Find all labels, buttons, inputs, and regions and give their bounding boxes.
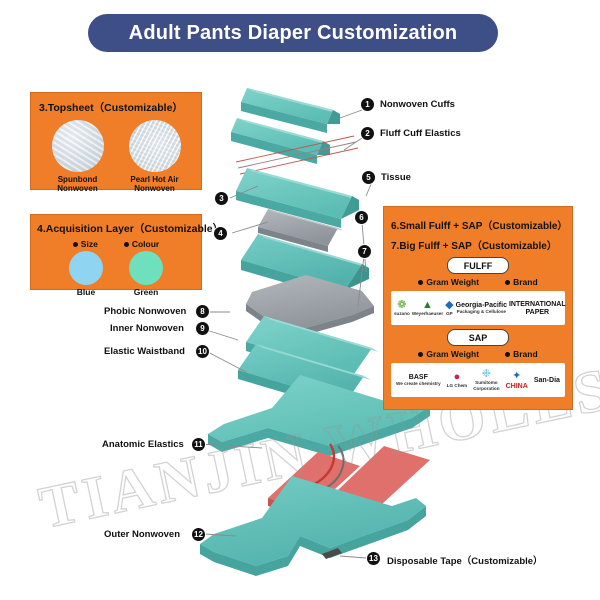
colour-swatch-label: Green [134, 287, 159, 297]
fulff-attribute-gram-weight: Gram Weight [418, 277, 479, 287]
brand-logo-international-paper: INTERNATIONAL PAPER [509, 300, 566, 316]
brand-subtitle: Corporation [473, 387, 499, 392]
brand-logo-china: ✦ CHINA [506, 371, 528, 390]
brand-name: BASF [409, 374, 428, 381]
callout-marker-12[interactable]: 12 [192, 528, 205, 541]
acquisition-panel-title: 4.Acquisition Layer（Customizable） [37, 221, 195, 236]
callout-label-11: Anatomic Elastics [102, 439, 184, 450]
colour-circle-icon [129, 251, 163, 285]
bullet-icon [505, 280, 510, 285]
fulff-line-big: 7.Big Fulff + SAP（Customizable） [391, 237, 565, 252]
callout-marker-8[interactable]: 8 [196, 305, 209, 318]
topsheet-panel: 3.Topsheet（Customizable） Spunbond Nonwov… [30, 92, 202, 190]
callout-label-2: Fluff Cuff Elastics [380, 128, 461, 139]
sap-brand-strip: BASF We create chemistry ● LG Chem ❉ Sum… [391, 363, 565, 397]
page-root: Adult Pants Diaper Customization [0, 0, 600, 600]
callout-label-13: Disposable Tape（Customizable） [387, 553, 543, 567]
fulff-line-small: 6.Small Fulff + SAP（Customizable） [391, 217, 565, 232]
brand-logo-san-dia: San-Dia [534, 376, 560, 384]
brand-name: Georgia-Pacific [456, 302, 507, 309]
attribute-label: Brand [513, 277, 538, 287]
brand-name: Sumitomo [475, 381, 497, 386]
attribute-label: Colour [132, 239, 159, 249]
bullet-icon [418, 352, 423, 357]
brand-name: suzano [394, 312, 410, 317]
brand-logo-basf: BASF We create chemistry [396, 373, 441, 387]
sap-attribute-brand: Brand [505, 349, 538, 359]
callout-label-5: Tissue [381, 172, 411, 183]
fulff-pill: FULFF [447, 257, 509, 274]
acquisition-attribute-colour: Colour [124, 239, 159, 249]
callout-marker-2[interactable]: 2 [361, 127, 374, 140]
topsheet-option-label: Pearl Hot Air Nonwoven [130, 175, 178, 193]
callout-marker-10[interactable]: 10 [196, 345, 209, 358]
fulff-sap-panel: 6.Small Fulff + SAP（Customizable） 7.Big … [383, 206, 573, 410]
topsheet-option-spunbond[interactable]: Spunbond Nonwoven [52, 120, 104, 193]
colour-swatch-green[interactable]: Green [129, 251, 163, 297]
callout-label-8: Phobic Nonwoven [104, 306, 186, 317]
bullet-icon [73, 242, 78, 247]
bullet-icon [124, 242, 129, 247]
callout-label-10: Elastic Waistband [104, 346, 185, 357]
topsheet-option-label: Spunbond Nonwoven [57, 175, 97, 193]
attribute-label: Gram Weight [426, 277, 479, 287]
brand-subtitle: Packaging & Cellulose [457, 310, 506, 315]
callout-marker-13[interactable]: 13 [367, 552, 380, 565]
callout-label-9: Inner Nonwoven [110, 323, 184, 334]
brand-name: INTERNATIONAL [509, 301, 566, 308]
triangle-tree-icon: ▲ [422, 300, 433, 311]
brand-logo-sumitomo: ❉ Sumitomo Corporation [473, 369, 499, 391]
colour-circle-icon [69, 251, 103, 285]
callout-label-1: Nonwoven Cuffs [380, 99, 455, 110]
callout-marker-3[interactable]: 3 [215, 192, 228, 205]
callout-label-12: Outer Nonwoven [104, 529, 180, 540]
circle-icon: ● [454, 372, 461, 383]
colour-swatch-label: Blue [77, 287, 95, 297]
diamond-icon: ◆ [445, 300, 453, 311]
attribute-label: Size [81, 239, 98, 249]
callout-marker-11[interactable]: 11 [192, 438, 205, 451]
acquisition-layer-panel: 4.Acquisition Layer（Customizable） Size C… [30, 214, 202, 290]
brand-name: CHINA [506, 383, 528, 390]
brand-logo-gp-mark: ◆ GP [445, 300, 453, 317]
bullet-icon [505, 352, 510, 357]
brand-logo-lg-chem: ● LG Chem [447, 372, 467, 389]
sparkle-icon: ✦ [512, 371, 521, 382]
callout-marker-1[interactable]: 1 [361, 98, 374, 111]
brand-name: LG Chem [447, 384, 467, 389]
sap-pill: SAP [447, 329, 509, 346]
topsheet-panel-title: 3.Topsheet（Customizable） [39, 100, 193, 115]
brand-logo-suzano: ❁ suzano [394, 300, 410, 317]
attribute-label: Brand [513, 349, 538, 359]
callout-marker-9[interactable]: 9 [196, 322, 209, 335]
brand-subtitle: We create chemistry [396, 382, 441, 387]
fulff-brand-strip: ❁ suzano ▲ Weyerhaeuser ◆ GP Georgia-Pac… [391, 291, 565, 325]
callout-marker-4[interactable]: 4 [214, 227, 227, 240]
brand-subtitle: PAPER [526, 309, 550, 316]
callout-marker-7[interactable]: 7 [358, 245, 371, 258]
leaf-icon: ❁ [397, 300, 406, 311]
bullet-icon [418, 280, 423, 285]
colour-swatch-blue[interactable]: Blue [69, 251, 103, 297]
callout-marker-6[interactable]: 6 [355, 211, 368, 224]
brand-logo-weyerhaeuser: ▲ Weyerhaeuser [412, 300, 443, 317]
starburst-icon: ❉ [482, 369, 491, 380]
attribute-label: Gram Weight [426, 349, 479, 359]
acquisition-attribute-size: Size [73, 239, 98, 249]
fabric-swatch-icon [129, 120, 181, 172]
brand-name: San-Dia [534, 377, 560, 384]
brand-name: GP [446, 312, 453, 317]
fulff-attribute-brand: Brand [505, 277, 538, 287]
sap-attribute-gram-weight: Gram Weight [418, 349, 479, 359]
brand-logo-georgia-pacific: Georgia-Pacific Packaging & Cellulose [456, 301, 507, 315]
fabric-swatch-icon [52, 120, 104, 172]
topsheet-option-pearl-hot-air[interactable]: Pearl Hot Air Nonwoven [129, 120, 181, 193]
callout-marker-5[interactable]: 5 [362, 171, 375, 184]
brand-name: Weyerhaeuser [412, 312, 443, 317]
